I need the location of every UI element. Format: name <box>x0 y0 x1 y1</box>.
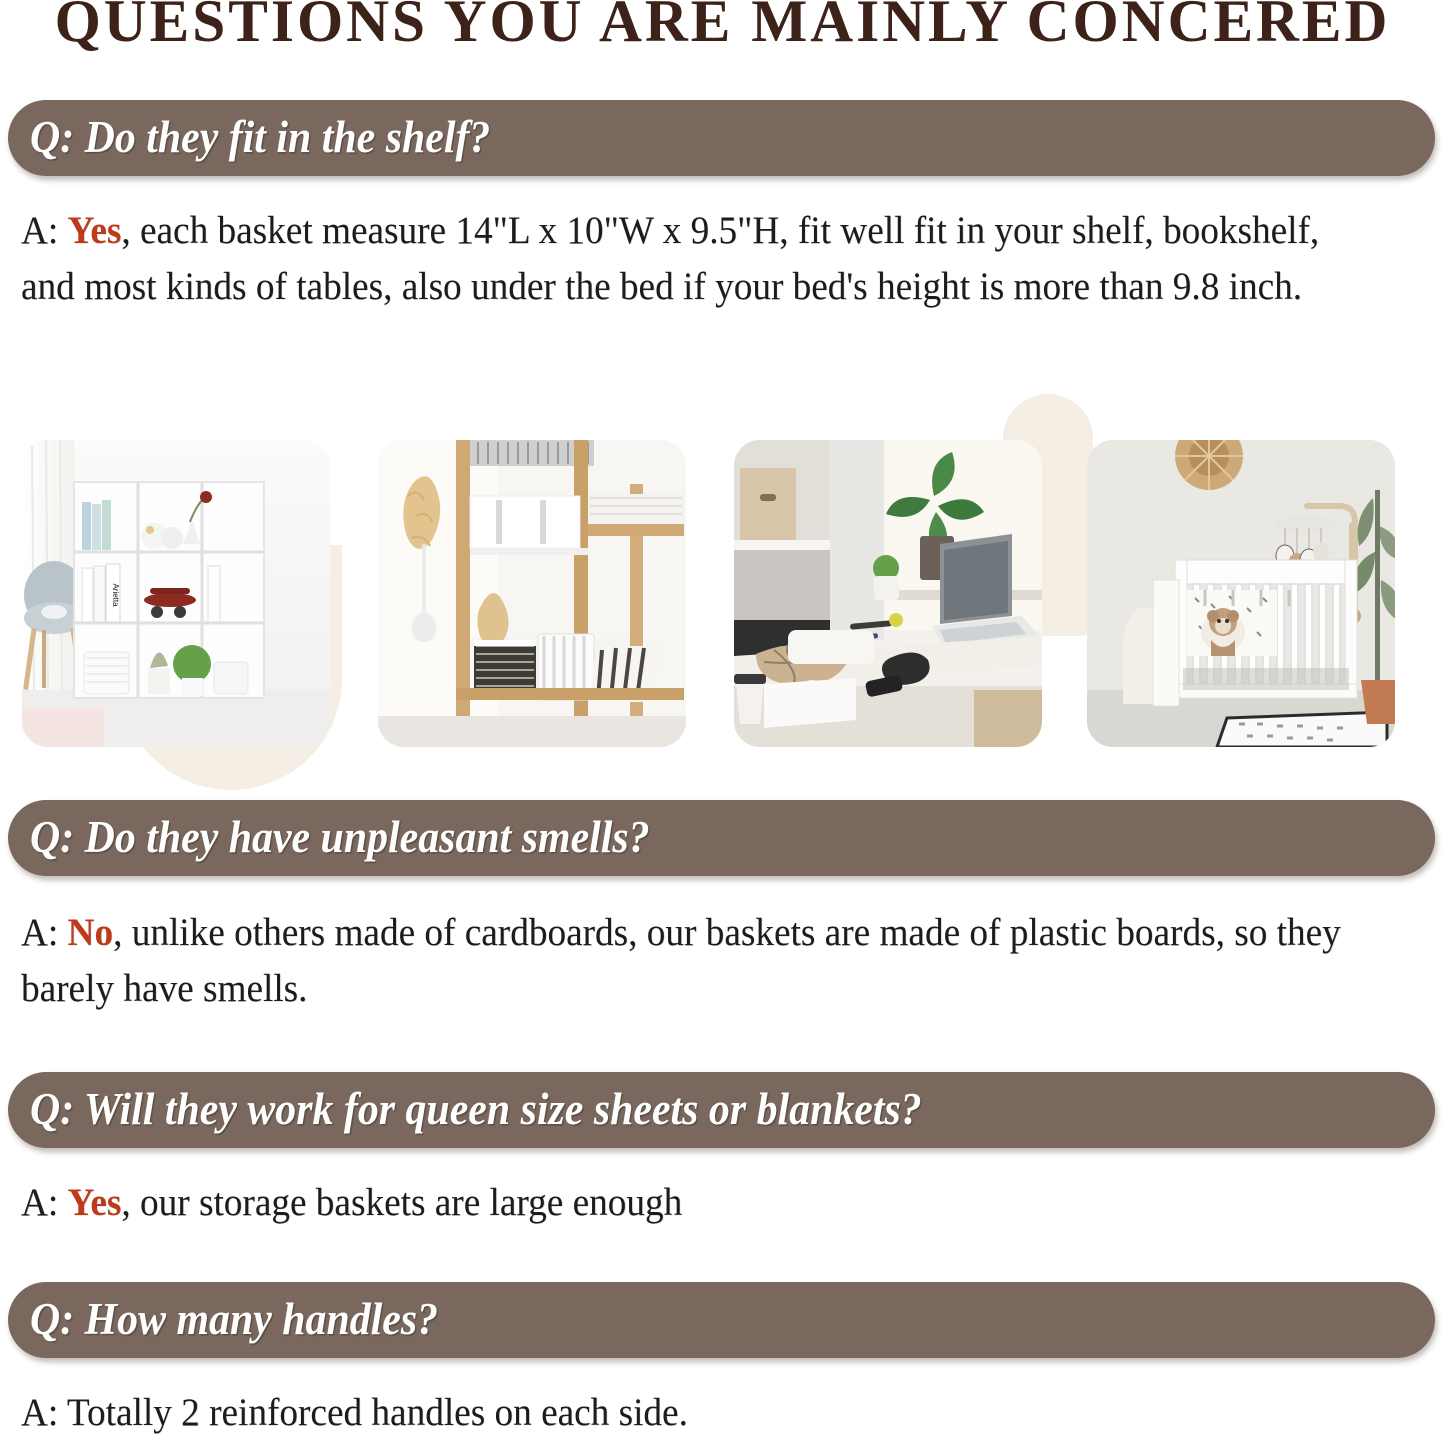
answer-body-2: , unlike others made of cardboards, our … <box>21 911 1341 1010</box>
answer-text-2: A: No, unlike others made of cardboards,… <box>21 905 1369 1017</box>
answer-highlight-2: No <box>68 911 114 954</box>
answer-prefix-2: A: <box>21 911 68 954</box>
photo-bamboo-shelving-unit[interactable] <box>378 440 686 747</box>
photo-white-cube-bookshelf-living-room[interactable]: Arietta <box>22 440 330 747</box>
photo-3-art <box>734 440 1042 747</box>
answer-highlight-1: Yes <box>68 209 122 252</box>
answer-text-4: A: Totally 2 reinforced handles on each … <box>21 1385 1369 1441</box>
question-text-2: Q: Do they have unpleasant smells? <box>30 813 650 861</box>
question-bar-4[interactable]: Q: How many handles? <box>8 1282 1435 1358</box>
question-bar-2[interactable]: Q: Do they have unpleasant smells? <box>8 800 1435 876</box>
answer-prefix-1: A: <box>21 209 68 252</box>
photo-4-art <box>1087 440 1395 747</box>
answer-prefix-3: A: <box>21 1181 68 1224</box>
photo-nursery-crib[interactable] <box>1087 440 1395 747</box>
question-bar-3[interactable]: Q: Will they work for queen size sheets … <box>8 1072 1435 1148</box>
answer-body-3: , our storage baskets are large enough <box>121 1181 682 1224</box>
photo-2-art <box>378 440 686 747</box>
question-text-4: Q: How many handles? <box>30 1295 438 1343</box>
answer-text-1: A: Yes, each basket measure 14"L x 10"W … <box>21 203 1369 315</box>
answer-text-3: A: Yes, our storage baskets are large en… <box>21 1175 1369 1231</box>
page-title: QUESTIONS YOU ARE MAINLY CONCERED <box>7 0 1438 54</box>
question-text-1: Q: Do they fit in the shelf? <box>30 113 490 161</box>
answer-highlight-3: Yes <box>68 1181 122 1224</box>
answer-body-1: , each basket measure 14"L x 10"W x 9.5"… <box>21 209 1319 308</box>
photo-1-art: Arietta <box>22 440 330 747</box>
faq-infographic: QUESTIONS YOU ARE MAINLY CONCERED Q: Do … <box>0 0 1445 1428</box>
photo-home-office-desk[interactable] <box>734 440 1042 747</box>
svg-text:Arietta: Arietta <box>111 583 120 607</box>
question-bar-1[interactable]: Q: Do they fit in the shelf? <box>8 100 1435 176</box>
question-text-3: Q: Will they work for queen size sheets … <box>30 1085 922 1133</box>
